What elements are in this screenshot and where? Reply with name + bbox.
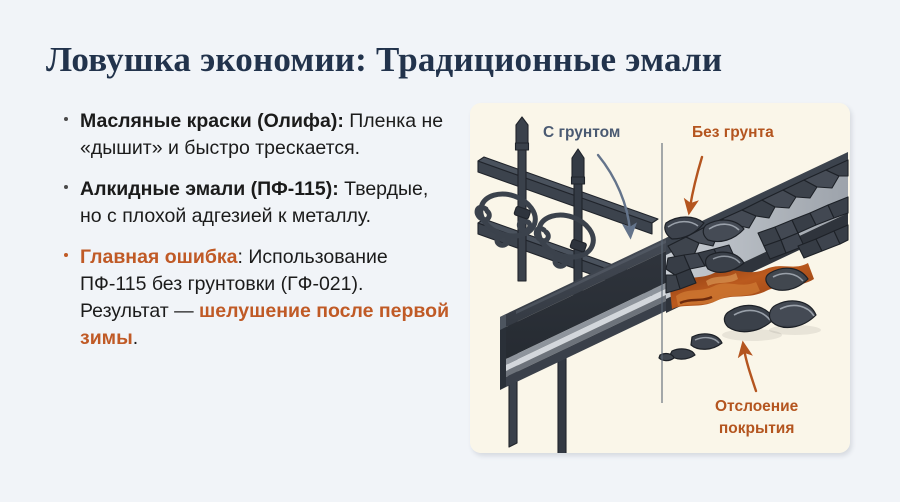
list-item-highlight: Главная ошибка: Использование ПФ-115 без… xyxy=(62,244,454,352)
bullet-list: Масляные краски (Олифа): Пленка не «дыши… xyxy=(62,108,454,366)
bullet-separator: : xyxy=(238,246,249,268)
bullet-lead: Масляные краски (Олифа) xyxy=(80,110,337,132)
illustration-panel xyxy=(470,103,850,453)
list-item: Алкидные эмали (ПФ-115): Твердые, но с п… xyxy=(62,176,454,230)
bullet-separator: : xyxy=(332,178,344,200)
bullet-marker-icon xyxy=(64,117,68,121)
bullet-separator: : xyxy=(337,110,349,132)
bullet-marker-icon xyxy=(64,253,68,257)
page-title: Ловушка экономии: Традиционные эмали xyxy=(46,40,722,80)
bullet-body-tail: . xyxy=(133,327,138,349)
fence-comparison-diagram xyxy=(470,103,850,453)
bullet-marker-icon xyxy=(64,185,68,189)
list-item: Масляные краски (Олифа): Пленка не «дыши… xyxy=(62,108,454,162)
bullet-lead-accent: Главная ошибка xyxy=(80,246,238,268)
bullet-lead: Алкидные эмали (ПФ-115) xyxy=(80,178,332,200)
